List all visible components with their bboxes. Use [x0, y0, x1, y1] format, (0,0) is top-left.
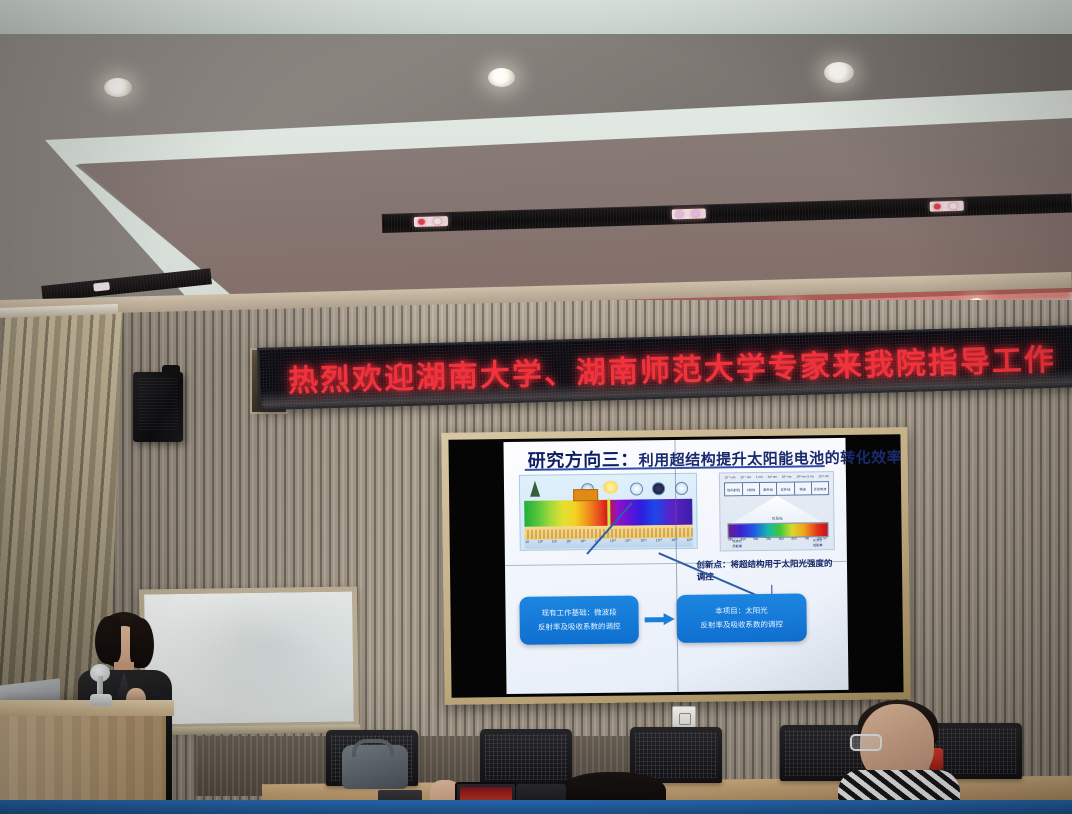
vis-category-cell: 微波 [795, 482, 812, 494]
vis-category-cell: 伽马射线 [725, 483, 742, 495]
ceiling-downlight [488, 68, 515, 87]
xray-icon [652, 482, 665, 495]
em-scale-tick: 10⁶ [566, 539, 571, 548]
em-scale-tick: 10²⁰ [671, 538, 678, 547]
em-spectrum-figure: 1010²10⁴10⁶10⁸10¹⁰10¹²10¹⁴10¹⁶10¹⁸10²⁰10… [519, 473, 698, 551]
wall-speaker-icon [133, 372, 183, 442]
vis-category-cell: X射线 [743, 483, 760, 495]
vis-axis-label: 高能量 [732, 543, 742, 548]
em-scale-tick: 10² [538, 540, 543, 549]
vis-category-table: 伽马射线 X射线 紫外线 红外线 微波 无线电波 [724, 481, 829, 496]
em-scale-tick: 10²² [687, 538, 693, 547]
glasses-icon [850, 734, 882, 751]
em-scale-tick: 10¹⁶ [640, 538, 647, 547]
vis-scale-tick: 1 nm [756, 475, 763, 481]
vis-category-cell: 无线电波 [812, 482, 828, 494]
ceiling-downlight [104, 78, 132, 97]
chair[interactable] [480, 729, 572, 785]
vis-category-cell: 红外线 [777, 483, 794, 495]
existing-work-box: 现有工作基础：微波段 反射率及吸收系数的调控 [519, 595, 639, 644]
flow-arrow-icon [644, 615, 675, 623]
em-frequency-scale: 1010²10⁴10⁶10⁸10¹⁰10¹²10¹⁴10¹⁶10¹⁸10²⁰10… [525, 538, 693, 549]
foreground-table-edge [0, 800, 1072, 814]
presentation-slide: 研究方向三：利用超结构提升太阳能电池的转化效率 [503, 438, 848, 694]
microwave-highlight-box [573, 489, 598, 501]
track-light-fixture [414, 216, 448, 227]
sun-icon [603, 481, 618, 494]
conference-room-photo: 热烈欢迎湖南大学、湖南师范大学专家来我院指导工作 研究方向三：利用超结构提升太阳… [0, 0, 1072, 814]
vis-axis-annotations: 短波长长波长 高能量低能量 [732, 537, 822, 548]
microphone-base [90, 694, 112, 706]
podium-top [0, 700, 174, 716]
em-spectrum-band [525, 499, 693, 527]
vis-scale-tick: 10¹² nm [819, 474, 829, 480]
current-project-line2: 反射率及吸收系数的调控 [700, 618, 783, 633]
vis-scale-tick: 10⁹ nm (1 m) [796, 474, 814, 480]
visible-light-marker [608, 499, 611, 527]
em-scale-tick: 10 [525, 540, 529, 549]
em-scale-tick: 10⁸ [580, 539, 585, 548]
vis-axis-label: 低能量 [813, 542, 823, 547]
ceiling-downlight [824, 62, 854, 83]
em-spectrum-icons [524, 478, 692, 500]
video-wall-frame: 研究方向三：利用超结构提升太阳能电池的转化效率 [441, 427, 910, 705]
existing-work-line1: 现有工作基础：微波段 [541, 605, 616, 620]
vis-scale-tick: 10³ nm [768, 475, 777, 481]
lamp-icon [630, 482, 643, 495]
track-light-fixture [930, 201, 964, 212]
presenter-hair-left [95, 616, 121, 664]
existing-work-line2: 反射率及吸收系数的调控 [538, 620, 621, 635]
podium [0, 700, 166, 814]
em-scale-tick: 10¹⁴ [625, 539, 632, 548]
backpack[interactable] [342, 745, 408, 789]
current-project-line1: 本项目：太阳光 [715, 604, 768, 619]
presenter-hair-right [130, 618, 154, 668]
audience-person-striped [838, 704, 960, 814]
em-scale-tick: 10¹² [610, 539, 616, 548]
visible-spectrum-figure: 10⁻³ nm 10⁻¹ nm 1 nm 10³ nm 10⁶ nm 10⁹ n… [719, 471, 835, 551]
vis-scale-tick: 10⁻³ nm [724, 475, 735, 481]
video-wall-screen[interactable]: 研究方向三：利用超结构提升太阳能电池的转化效率 [448, 434, 903, 698]
vis-category-cell: 紫外线 [760, 483, 777, 495]
vis-scale-tick: 10⁻¹ nm [740, 475, 751, 481]
track-light-fixture [672, 208, 706, 219]
em-scale-tick: 10⁴ [552, 539, 558, 548]
vis-top-scale: 10⁻³ nm 10⁻¹ nm 1 nm 10³ nm 10⁶ nm 10⁹ n… [724, 474, 829, 481]
em-scale-tick: 10¹⁸ [656, 538, 663, 547]
gamma-icon [675, 482, 688, 495]
vis-scale-tick: 10⁶ nm [782, 475, 792, 481]
radio-tower-icon [530, 481, 540, 497]
current-project-box: 本项目：太阳光 反射率及吸收系数的调控 [676, 593, 807, 643]
